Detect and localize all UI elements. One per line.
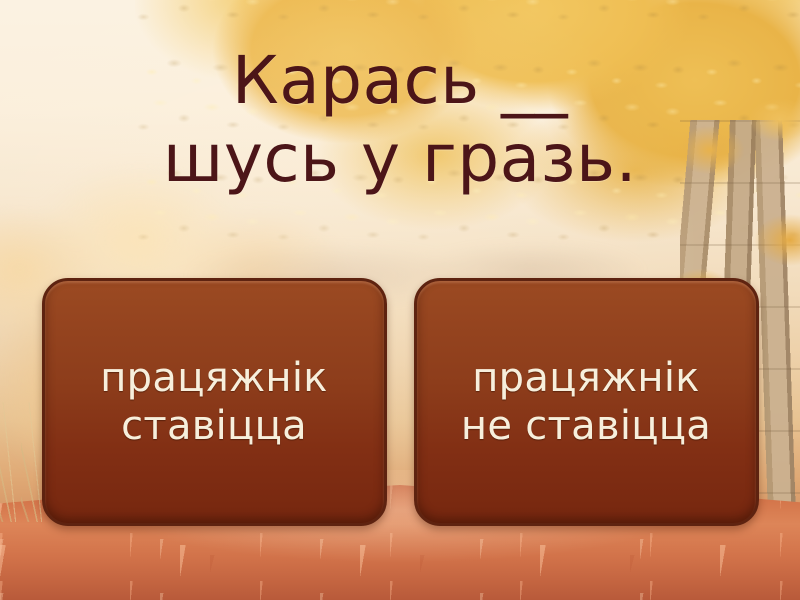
answer-option-left-label: працяжнік ставіцца — [100, 354, 328, 450]
quiz-content: Карась __ шусь у гразь. працяжнік ставіц… — [0, 0, 800, 600]
answer-option-left[interactable]: працяжнік ставіцца — [42, 278, 387, 526]
answer-option-right-label: працяжнік не ставіцца — [461, 354, 711, 450]
answer-options: працяжнік ставіцца працяжнік не ставіцца — [0, 278, 800, 526]
quiz-screen: Карась __ шусь у гразь. працяжнік ставіц… — [0, 0, 800, 600]
answer-option-right[interactable]: працяжнік не ставіцца — [414, 278, 759, 526]
question-text: Карась __ шусь у гразь. — [0, 42, 800, 198]
